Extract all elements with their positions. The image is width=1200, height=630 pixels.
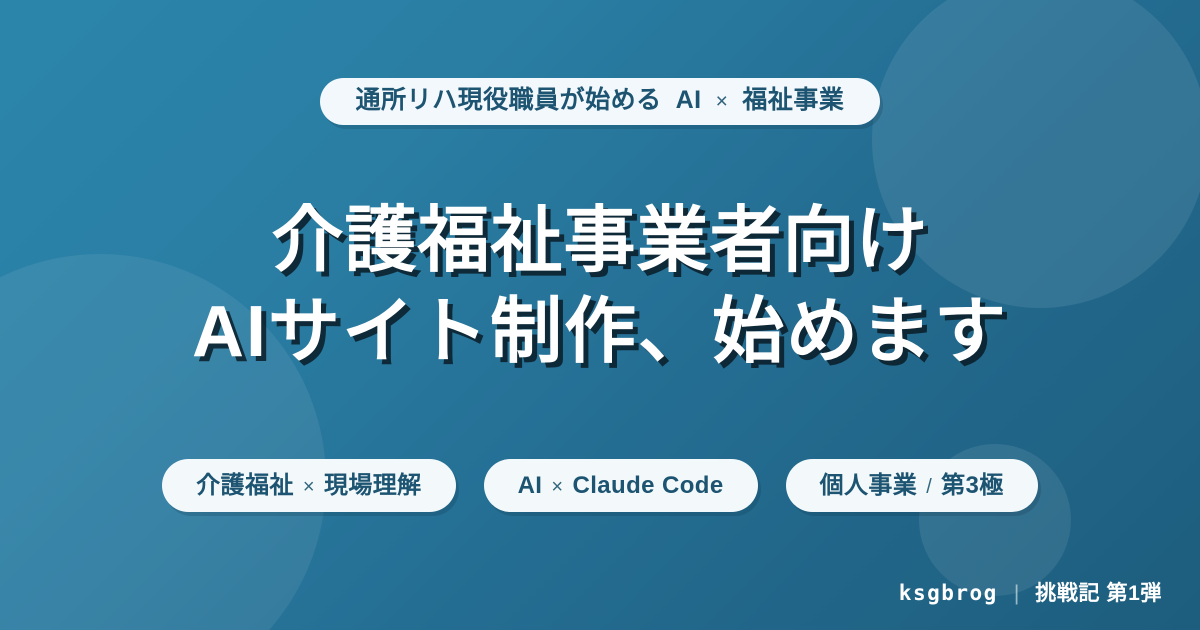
top-badge-row: 通所リハ現役職員が始める AI × 福祉事業	[0, 78, 1200, 125]
ogp-banner-card: 通所リハ現役職員が始める AI × 福祉事業 介護福祉事業者向け AIサイト制作…	[0, 0, 1200, 630]
times-separator-icon: ×	[551, 477, 563, 497]
tag-pill-1-left: 介護福祉	[196, 474, 294, 498]
tag-pill-care-welfare: 介護福祉 × 現場理解	[162, 459, 455, 512]
footer-credit: ksgbrog | 挑戦記 第1弾	[899, 583, 1162, 604]
top-badge-left-term: AI	[676, 88, 702, 113]
top-badge: 通所リハ現役職員が始める AI × 福祉事業	[320, 78, 881, 125]
footer-brand-name: ksgbrog	[899, 583, 998, 604]
tag-pill-ai-claude-code: AI × Claude Code	[484, 459, 758, 512]
page-title-line-1: 介護福祉事業者向け	[0, 196, 1200, 287]
top-badge-right-term: 福祉事業	[742, 88, 844, 113]
page-title: 介護福祉事業者向け AIサイト制作、始めます	[0, 196, 1200, 377]
slash-separator-icon: /	[926, 477, 932, 497]
times-separator-icon: ×	[716, 91, 729, 112]
footer-divider: |	[1014, 583, 1019, 604]
times-separator-icon: ×	[303, 477, 315, 497]
tag-pill-3-right: 第3極	[941, 474, 1004, 498]
tag-pill-1-right: 現場理解	[324, 474, 422, 498]
tag-pill-sole-proprietor: 個人事業 / 第3極	[786, 459, 1038, 512]
tag-pill-3-left: 個人事業	[820, 474, 918, 498]
tag-pill-2-left: AI	[518, 474, 543, 498]
tag-pill-2-right: Claude Code	[572, 474, 723, 498]
page-title-line-2: AIサイト制作、始めます	[0, 287, 1200, 378]
top-badge-lead: 通所リハ現役職員が始める	[356, 88, 662, 113]
tag-pill-row: 介護福祉 × 現場理解 AI × Claude Code 個人事業 / 第3極	[0, 459, 1200, 512]
footer-tagline: 挑戦記 第1弾	[1035, 583, 1162, 604]
